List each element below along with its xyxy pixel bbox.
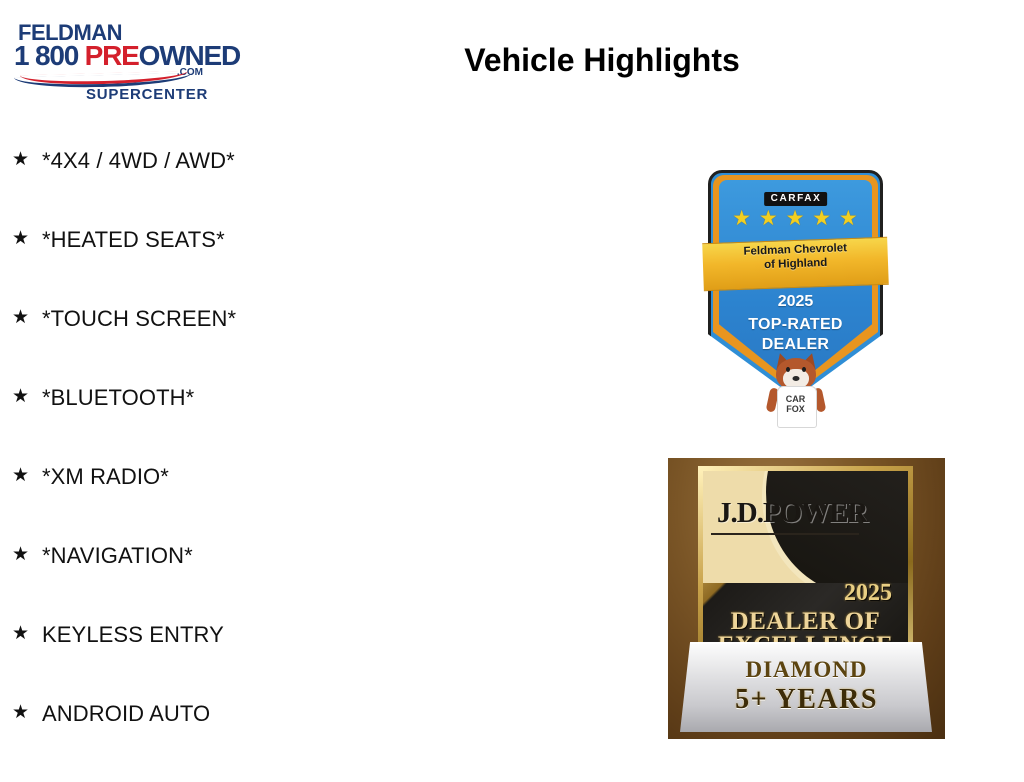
highlight-label: *XM RADIO* [42,466,169,488]
list-item: ★ ANDROID AUTO [12,703,432,782]
highlight-label: *NAVIGATION* [42,545,193,567]
vehicle-highlights-list: ★ *4X4 / 4WD / AWD* ★ *HEATED SEATS* ★ *… [12,150,432,782]
star-bullet-icon: ★ [12,308,42,328]
carfax-logo: CARFAX [764,192,828,206]
logo-supercenter-text: SUPERCENTER [86,87,208,102]
jdpower-wordmark-underline [711,533,859,535]
car-fox-mascot-icon: CAR FOX [768,356,824,426]
list-item: ★ KEYLESS ENTRY [12,624,432,703]
page-title: Vehicle Highlights [0,42,1024,79]
jdpower-tenure-label: 5+ YEARS [668,686,945,714]
highlight-label: ANDROID AUTO [42,703,210,725]
carfax-star-rating-icons: ★ ★ ★ ★ ★ [708,208,883,229]
highlight-label: *4X4 / 4WD / AWD* [42,150,235,172]
list-item: ★ *4X4 / 4WD / AWD* [12,150,432,229]
highlight-label: *HEATED SEATS* [42,229,225,251]
jdpower-wordmark: J.D.POWER [717,499,868,528]
star-bullet-icon: ★ [12,466,42,486]
list-item: ★ *NAVIGATION* [12,545,432,624]
fox-right-eye-icon [802,367,806,372]
highlight-label: KEYLESS ENTRY [42,624,224,646]
fox-left-eye-icon [786,367,790,372]
carfax-top-rated-dealer-badge: CARFAX ★ ★ ★ ★ ★ Feldman Chevrolet of Hi… [708,170,883,398]
highlight-label: *BLUETOOTH* [42,387,194,409]
list-item: ★ *HEATED SEATS* [12,229,432,308]
fox-nose-icon [792,376,799,381]
jdpower-award-year: 2025 [844,581,892,605]
carfax-dealer-name: Feldman Chevrolet of Highland [708,240,884,275]
star-bullet-icon: ★ [12,229,42,249]
jdpower-tier-label: DIAMOND [668,658,945,681]
star-bullet-icon: ★ [12,150,42,170]
list-item: ★ *BLUETOOTH* [12,387,432,466]
list-item: ★ *XM RADIO* [12,466,432,545]
star-bullet-icon: ★ [12,703,42,723]
star-bullet-icon: ★ [12,387,42,407]
list-item: ★ *TOUCH SCREEN* [12,308,432,387]
carfax-award-year: 2025 [708,294,883,310]
fox-shirt-label: CAR FOX [777,394,815,415]
jdpower-dealer-of-excellence-badge: J.D.POWER 2025 DEALER OF EXCELLENCE DIAM… [668,458,945,739]
star-bullet-icon: ★ [12,624,42,644]
star-bullet-icon: ★ [12,545,42,565]
carfax-award-title: TOP-RATED DEALER [708,315,883,355]
highlight-label: *TOUCH SCREEN* [42,308,236,330]
